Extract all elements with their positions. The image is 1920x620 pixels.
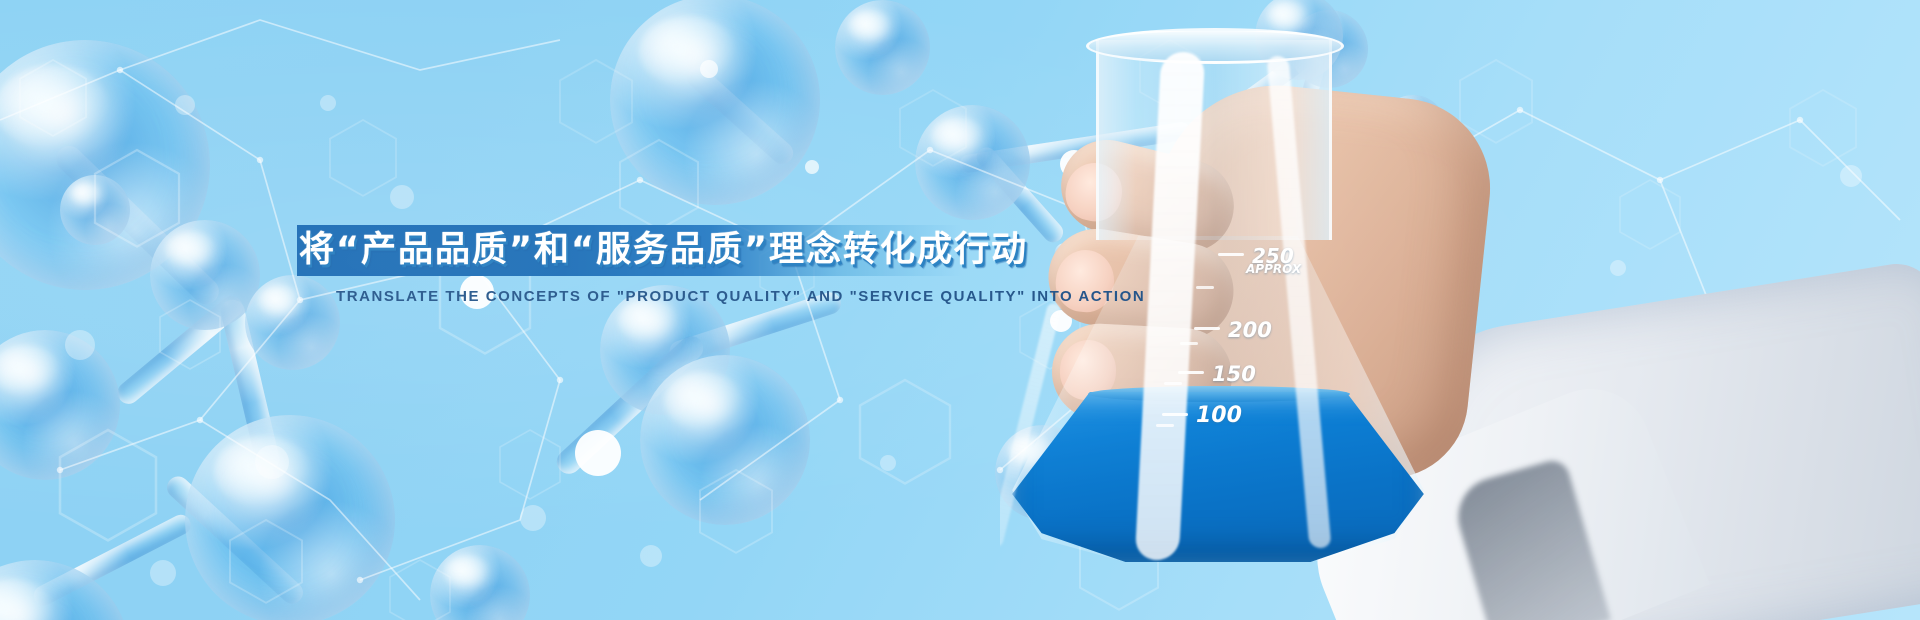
bokeh-dot <box>1050 310 1072 332</box>
molecule-sphere <box>60 175 130 245</box>
molecule-glow <box>1010 435 1059 473</box>
flask-graduation-label: APPROX <box>1246 262 1301 276</box>
molecule-sphere <box>1150 250 1280 380</box>
network-link <box>790 150 1130 470</box>
bokeh-dot <box>1205 185 1219 199</box>
hexagon-cell <box>1140 40 1200 109</box>
hexagon-network <box>0 0 1920 620</box>
molecule-glow <box>71 182 107 210</box>
network-node <box>297 297 303 303</box>
flask-highlight-secondary <box>1266 56 1331 548</box>
finger-middle <box>1042 222 1241 346</box>
molecule-glow <box>850 10 899 48</box>
bokeh-dot <box>995 245 1007 257</box>
finger-ring <box>1050 321 1235 426</box>
hexagon-cell <box>160 300 220 369</box>
network-node <box>467 257 473 263</box>
hexagon-cell <box>1530 400 1614 497</box>
molecule-glow <box>0 65 130 165</box>
hexagon-cell <box>95 150 179 247</box>
bokeh-dot <box>520 505 546 531</box>
molecule-sphere <box>995 425 1090 520</box>
bokeh-dot <box>255 445 289 479</box>
molecule-glow <box>168 231 225 275</box>
molecule-bond <box>1053 293 1237 468</box>
bokeh-dot <box>1060 150 1088 178</box>
molecule-glow <box>1171 263 1239 315</box>
bokeh-dot <box>1755 400 1775 420</box>
bokeh-dot <box>1840 165 1862 187</box>
flask-graduation-label: 150 <box>1212 362 1256 386</box>
molecule-glow <box>1349 156 1379 179</box>
network-link <box>300 260 560 580</box>
molecule-sphere <box>915 105 1030 220</box>
network-link <box>200 420 420 600</box>
flask-graduation-tick <box>1162 413 1188 416</box>
molecule-bond <box>218 297 281 472</box>
network-node <box>1657 177 1663 183</box>
headline-bar <box>297 225 962 276</box>
hexagon-cell <box>1180 180 1234 242</box>
molecule-sphere <box>1380 95 1446 161</box>
hexagon-cell <box>860 380 950 484</box>
flask-graduation-label: 100 <box>1196 403 1242 428</box>
flask-edge-left <box>1000 302 1062 548</box>
molecule-sphere <box>245 275 340 370</box>
molecule-bond <box>163 472 308 608</box>
network-link <box>1130 360 1400 540</box>
hexagon-cell <box>390 560 450 620</box>
network-link <box>1080 120 1420 450</box>
fingernail <box>1052 247 1117 316</box>
molecule-glow <box>0 579 69 620</box>
hexagon-cell <box>1840 330 1918 420</box>
network-node <box>57 467 63 473</box>
molecule-sphere <box>0 560 130 620</box>
flask-graduation-minor-tick <box>1156 424 1174 427</box>
bokeh-dot <box>460 275 494 309</box>
vignette-overlay <box>0 0 1920 620</box>
network-link <box>120 20 560 70</box>
hexagon-cell <box>1080 520 1158 610</box>
network-node <box>927 147 933 153</box>
hexagon-cell <box>1460 60 1532 143</box>
flask-graduation-label: 200 <box>1228 318 1272 342</box>
network-link <box>1720 330 1900 540</box>
bokeh-dot <box>1610 260 1626 276</box>
network-node <box>1377 187 1383 193</box>
molecule-sphere <box>1215 120 1275 180</box>
hexagon-cell <box>330 120 396 196</box>
hexagon-cell <box>1250 440 1322 523</box>
molecule-sphere <box>610 0 820 205</box>
bokeh-dot <box>65 330 95 360</box>
hexagon-cell <box>900 90 966 166</box>
network-node <box>1517 107 1523 113</box>
molecule-glow <box>667 372 755 440</box>
molecule-glow <box>219 436 328 520</box>
network-link <box>1660 120 1900 220</box>
flask-cone <box>1008 236 1428 562</box>
hexagon-cell <box>620 140 698 230</box>
molecule-sphere <box>185 415 395 620</box>
molecule-bond <box>683 62 798 168</box>
hexagon-cell <box>60 430 156 540</box>
molecule-bond <box>959 121 1192 174</box>
flask-liquid <box>1008 392 1428 562</box>
molecule-bond <box>973 143 1068 246</box>
hexagon-cell <box>1620 180 1680 249</box>
hexagon-cell <box>1020 300 1080 369</box>
molecule-glow <box>621 298 689 350</box>
molecule-sphere <box>600 285 730 415</box>
bokeh-dot <box>640 545 662 567</box>
molecule-glow <box>260 285 309 323</box>
hexagon-cell <box>700 470 772 553</box>
flask-liquid-surface <box>1088 386 1350 402</box>
network-node <box>1597 427 1603 433</box>
flask-graduation-minor-tick <box>1180 342 1198 345</box>
molecule-bond <box>30 511 194 609</box>
flask-graduation-label: 250 <box>1252 244 1294 268</box>
molecule-bond <box>113 292 247 409</box>
molecule-bond <box>552 331 708 479</box>
network-node <box>1797 117 1803 123</box>
network-node <box>1077 207 1083 213</box>
bokeh-dot <box>700 60 718 78</box>
hexagon-cell <box>760 240 814 302</box>
molecule-bond <box>667 290 844 366</box>
flask-graduation-tick <box>1218 253 1244 256</box>
molecule-sphere <box>150 220 260 330</box>
bokeh-dot <box>1080 365 1124 409</box>
molecule-bond <box>1292 53 1327 132</box>
flask-graduation-tick <box>1178 371 1204 374</box>
network-node <box>197 417 203 423</box>
network-node <box>557 377 563 383</box>
network-node <box>1297 447 1303 453</box>
bokeh-dot <box>175 95 195 115</box>
network-link <box>470 180 840 500</box>
molecule-bond <box>51 141 224 310</box>
hexagon-cell <box>560 60 632 143</box>
molecule-glow <box>1302 18 1343 49</box>
scientist-holding-flask-photo: 250APPROX200150100 <box>1000 0 1920 620</box>
flask-graduation-minor-tick <box>1164 382 1182 385</box>
hexagon-cell <box>440 250 530 354</box>
network-node <box>997 467 1003 473</box>
finger-little <box>1076 408 1230 502</box>
fingernail <box>1084 422 1138 479</box>
molecule-sphere <box>0 40 210 290</box>
lab-coat <box>1377 258 1920 620</box>
hexagon-cell <box>1680 580 1746 620</box>
molecule-sphere <box>1290 10 1368 88</box>
molecule-glow <box>1269 1 1315 36</box>
molecule-sphere <box>0 330 120 480</box>
molecule-glow <box>0 345 72 405</box>
network-node <box>357 577 363 583</box>
hexagon-cell <box>1380 260 1440 329</box>
hexagon-cell <box>230 520 302 603</box>
bokeh-dot <box>575 430 621 476</box>
bokeh-dot <box>390 185 414 209</box>
lab-coat-collar <box>1290 371 1710 620</box>
page-subtitle: TRANSLATE THE CONCEPTS OF "PRODUCT QUALI… <box>336 288 1145 305</box>
molecule-glow <box>1225 126 1256 150</box>
hexagon-cell <box>20 60 86 136</box>
flask-neck <box>1096 40 1332 240</box>
molecule-sphere <box>1255 0 1343 80</box>
molecule-sphere <box>640 355 810 525</box>
molecule-sphere <box>1340 150 1398 208</box>
page-title: 将“产品品质”和“服务品质”理念转化成行动 <box>299 225 1028 276</box>
flask-rim <box>1086 28 1344 64</box>
molecule-glow <box>446 555 498 595</box>
molecule-bond <box>1247 166 1328 304</box>
hexagon-cell <box>1700 480 1772 563</box>
network-node <box>1227 117 1233 123</box>
molecule-sphere <box>430 545 530 620</box>
hand <box>1131 74 1499 486</box>
fingernail <box>1059 339 1117 401</box>
hexagon-cell <box>500 430 560 499</box>
bokeh-dot <box>1390 440 1408 458</box>
network-link <box>0 70 300 470</box>
molecule-glow <box>933 117 993 163</box>
network-node <box>117 67 123 73</box>
hero-banner: 250APPROX200150100 将“产品品质”和“服务品质”理念转化成行动… <box>0 0 1920 620</box>
flask-graduation-tick <box>1194 327 1220 330</box>
lab-coat-shadow-gap <box>1449 457 1611 620</box>
flask-highlight <box>1135 52 1206 560</box>
finger-index <box>1051 130 1243 262</box>
headline-block: 将“产品品质”和“服务品质”理念转化成行动 TRANSLATE THE CONC… <box>0 0 1920 620</box>
molecule-bond <box>1052 240 1213 309</box>
network-node <box>837 397 843 403</box>
bokeh-dot <box>1480 520 1498 538</box>
network-node <box>257 157 263 163</box>
bokeh-dot <box>880 455 896 471</box>
molecule-glow <box>1391 102 1425 128</box>
bokeh-dot <box>320 95 336 111</box>
molecule-bond <box>1195 33 1336 143</box>
bokeh-dot <box>805 160 819 174</box>
fingernail <box>1061 158 1128 226</box>
hexagon-cell <box>1790 90 1856 166</box>
bokeh-dot <box>150 560 176 586</box>
network-node <box>637 177 643 183</box>
network-link <box>1380 110 1720 430</box>
molecule-sphere <box>835 0 930 95</box>
flask-graduation-minor-tick <box>1196 286 1214 289</box>
molecule-glow <box>644 16 753 100</box>
